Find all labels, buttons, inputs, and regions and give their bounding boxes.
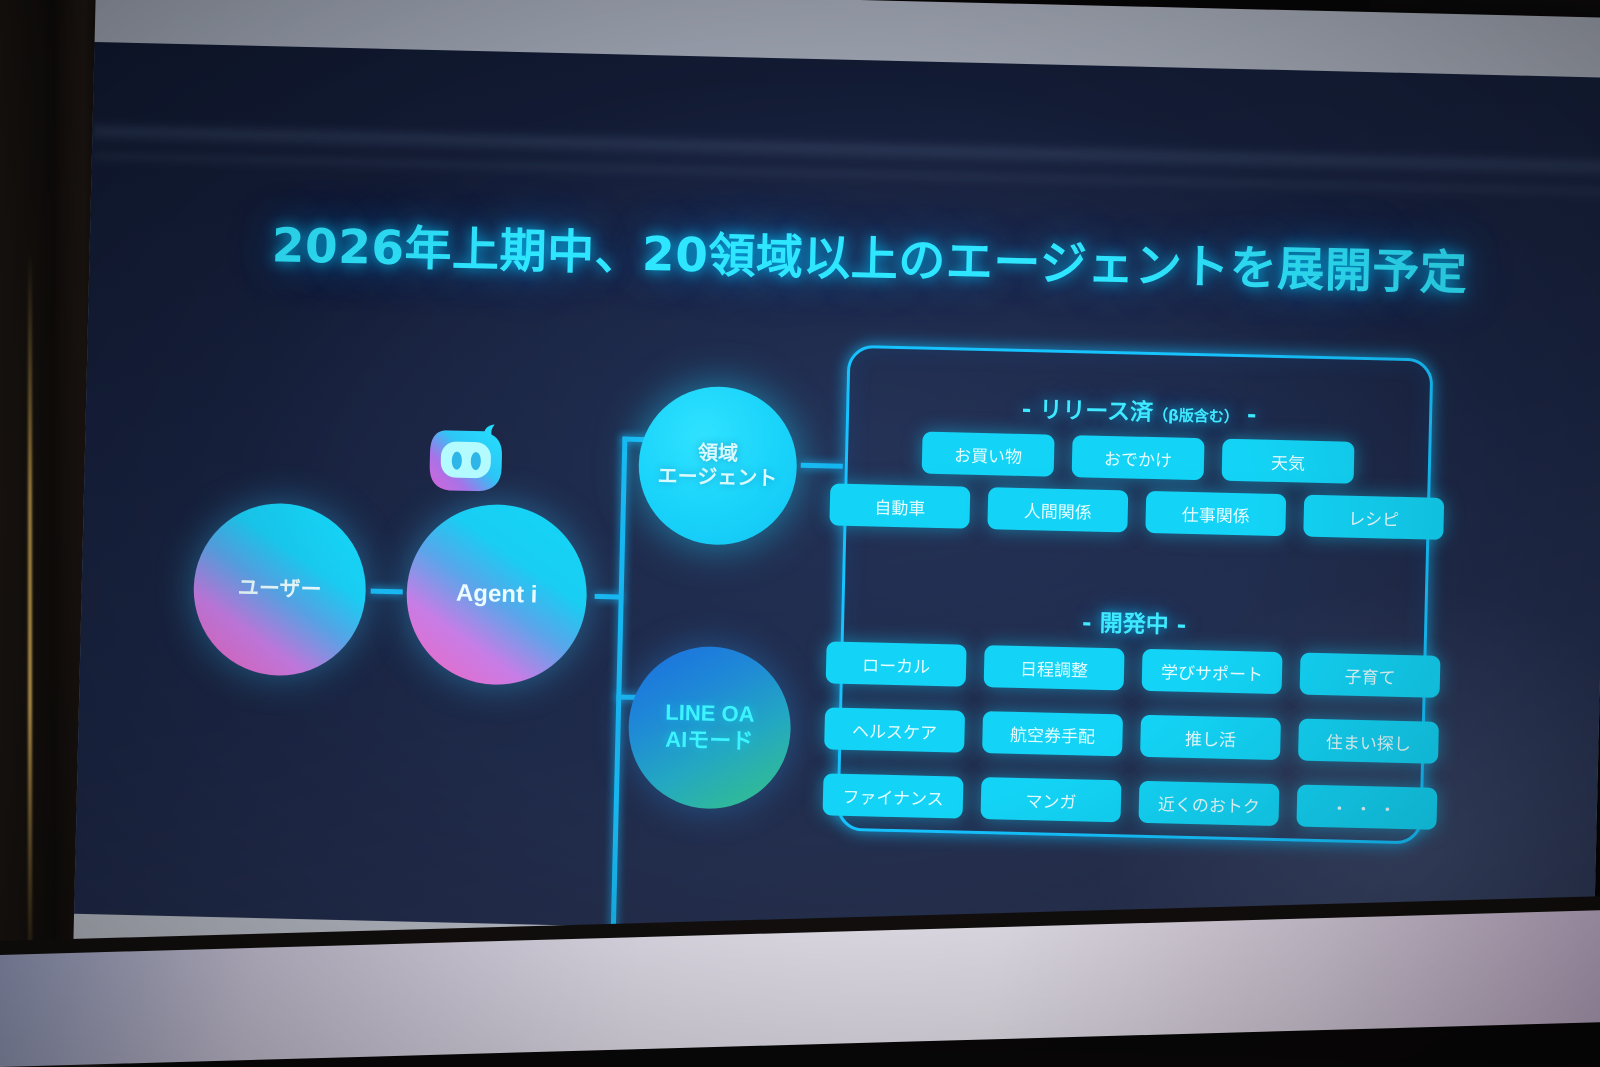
tag-developing-0-3[interactable]: 子育て — [1300, 653, 1441, 698]
node-domain-agent-label-line1: 領域 — [658, 440, 778, 467]
developing-tag-row-3: ファイナンス マンガ 近くのおトク ・・・ — [840, 774, 1421, 830]
node-domain-agent: 領域 エージェント — [637, 385, 799, 547]
node-line-oa-label-line2: AIモード — [664, 727, 754, 756]
connector-user-to-agent — [371, 589, 403, 595]
tag-developing-0-0[interactable]: ローカル — [826, 641, 967, 686]
projection-screen: 2026年上期中、20領域以上のエージェントを展開予定 ユーザー — [72, 0, 1600, 1018]
connector-fork-vertical — [608, 437, 628, 950]
developing-tag-row-2: ヘルスケア 航空券手配 推し活 住まい探し — [841, 708, 1422, 764]
agent-domains-panel: - リリース済（β版含む） - お買い物 おでかけ 天気 自動車 人間関係 仕事… — [836, 345, 1433, 845]
tag-released-1-3[interactable]: レシピ — [1303, 495, 1444, 540]
released-tag-row-2: 自動車 人間関係 仕事関係 レシピ — [846, 484, 1427, 540]
projection-screen-assembly: 2026年上期中、20領域以上のエージェントを展開予定 ユーザー — [72, 0, 1600, 1018]
developing-tag-row-1: ローカル 日程調整 学びサポート 子育て — [843, 642, 1424, 698]
released-heading-sub: （β版含む） — [1153, 406, 1239, 426]
tag-developing-2-3[interactable]: ・・・ — [1296, 785, 1437, 830]
projection-photo: 2026年上期中、20領域以上のエージェントを展開予定 ユーザー — [0, 0, 1600, 1067]
tag-developing-0-2[interactable]: 学びサポート — [1142, 649, 1283, 694]
tag-released-0-1[interactable]: おでかけ — [1072, 435, 1205, 480]
tag-released-1-2[interactable]: 仕事関係 — [1145, 491, 1286, 536]
node-line-oa-ai-mode: LINE OA AIモード — [627, 645, 793, 811]
tag-developing-1-1[interactable]: 航空券手配 — [982, 711, 1123, 756]
developing-section-heading: - 開発中 - — [844, 598, 1425, 646]
tag-developing-2-0[interactable]: ファイナンス — [823, 773, 964, 818]
released-heading-main: - リリース済 — [1022, 397, 1154, 426]
node-agent-i-label: Agent i — [456, 579, 538, 610]
tag-developing-2-1[interactable]: マンガ — [981, 777, 1122, 822]
tag-released-0-2[interactable]: 天気 — [1222, 439, 1355, 484]
tag-developing-0-1[interactable]: 日程調整 — [984, 645, 1125, 690]
presentation-slide: 2026年上期中、20領域以上のエージェントを展開予定 ユーザー — [74, 42, 1600, 950]
tag-released-1-1[interactable]: 人間関係 — [987, 487, 1128, 532]
node-domain-agent-label-line2: エージェント — [657, 464, 777, 491]
node-agent-i: Agent i — [405, 503, 589, 687]
wall-light-stripe — [28, 250, 32, 950]
released-tag-row-1: お買い物 おでかけ 天気 — [848, 430, 1429, 486]
released-heading-tail: - — [1247, 402, 1257, 428]
node-line-oa-label-line1: LINE OA — [665, 700, 755, 729]
node-user-label: ユーザー — [238, 576, 322, 604]
tag-released-0-0[interactable]: お買い物 — [922, 432, 1055, 477]
robot-face-icon — [423, 422, 511, 500]
slide-title: 2026年上期中、20領域以上のエージェントを展開予定 — [271, 206, 1452, 303]
node-user: ユーザー — [192, 501, 368, 677]
tag-developing-1-0[interactable]: ヘルスケア — [824, 707, 965, 752]
released-section-heading: - リリース済（β版含む） - — [849, 386, 1430, 434]
tag-developing-1-2[interactable]: 推し活 — [1140, 715, 1281, 760]
connector-domain-agent-to-panel — [801, 463, 843, 469]
tag-developing-1-3[interactable]: 住まい探し — [1298, 719, 1439, 764]
tag-developing-2-2[interactable]: 近くのおトク — [1138, 781, 1279, 826]
tag-released-1-0[interactable]: 自動車 — [829, 483, 970, 528]
